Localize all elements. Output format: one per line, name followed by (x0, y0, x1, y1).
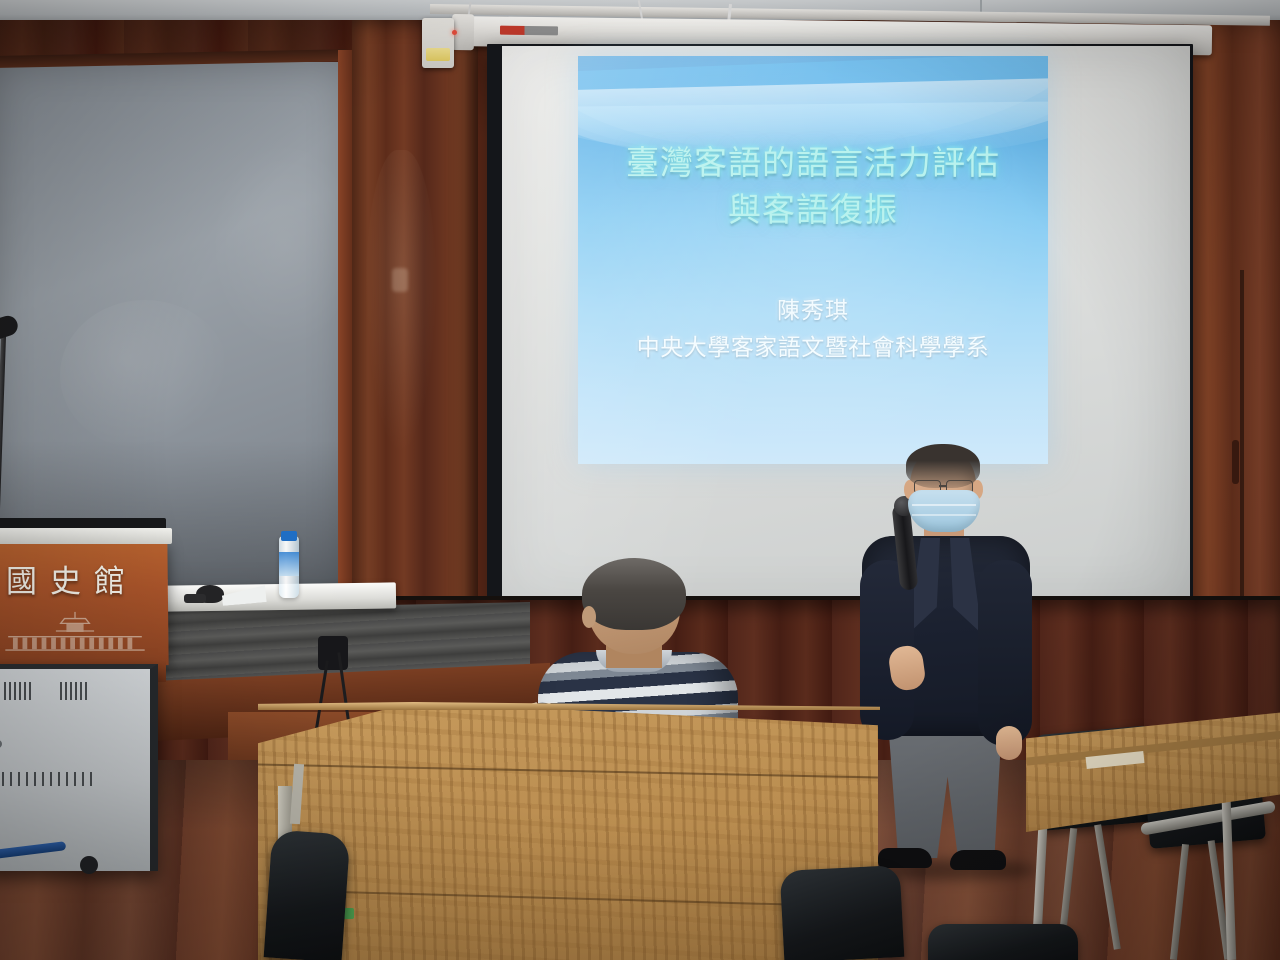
lecture-hall-photo: 臺灣客語的語言活力評估 與客語復振 陳秀琪 中央大學客家語文暨社會科學學系 國史… (0, 0, 1280, 960)
roller-brand-label (500, 26, 558, 36)
whiteboard-smudge (60, 300, 230, 450)
presenter-hand (996, 726, 1022, 760)
control-box-sticker (426, 48, 450, 61)
building-emblem-icon (2, 610, 148, 652)
presenter-arm (978, 560, 1032, 746)
bottle-cap (281, 531, 297, 541)
mask-fold (912, 514, 976, 516)
door-handle[interactable] (1232, 440, 1239, 484)
podium-venue-sign: 國史館 (6, 556, 156, 601)
face-mask-icon (908, 490, 980, 532)
ledge-object (184, 594, 206, 603)
bottle-label (279, 552, 299, 576)
chair-backrest[interactable] (928, 924, 1078, 960)
attendee-ear (582, 606, 596, 628)
mask-fold (912, 504, 976, 506)
cabinet-vent (60, 682, 88, 700)
chair-backrest[interactable] (780, 865, 905, 960)
pillar-mark (392, 268, 408, 292)
podium-top-surface (0, 528, 172, 544)
chair-backrest[interactable] (264, 829, 351, 960)
cabinet-vent (4, 682, 34, 700)
eyeglasses-bridge (939, 485, 947, 487)
presenter-shoe (950, 850, 1006, 870)
cabinet-caster (80, 856, 98, 874)
presenter-shoe (878, 848, 932, 868)
cabinet-vent (0, 772, 98, 786)
speaker-cabinet (318, 636, 348, 670)
attendee-hair (582, 558, 686, 630)
power-led-icon (452, 30, 457, 35)
pillar-stain (366, 150, 436, 450)
